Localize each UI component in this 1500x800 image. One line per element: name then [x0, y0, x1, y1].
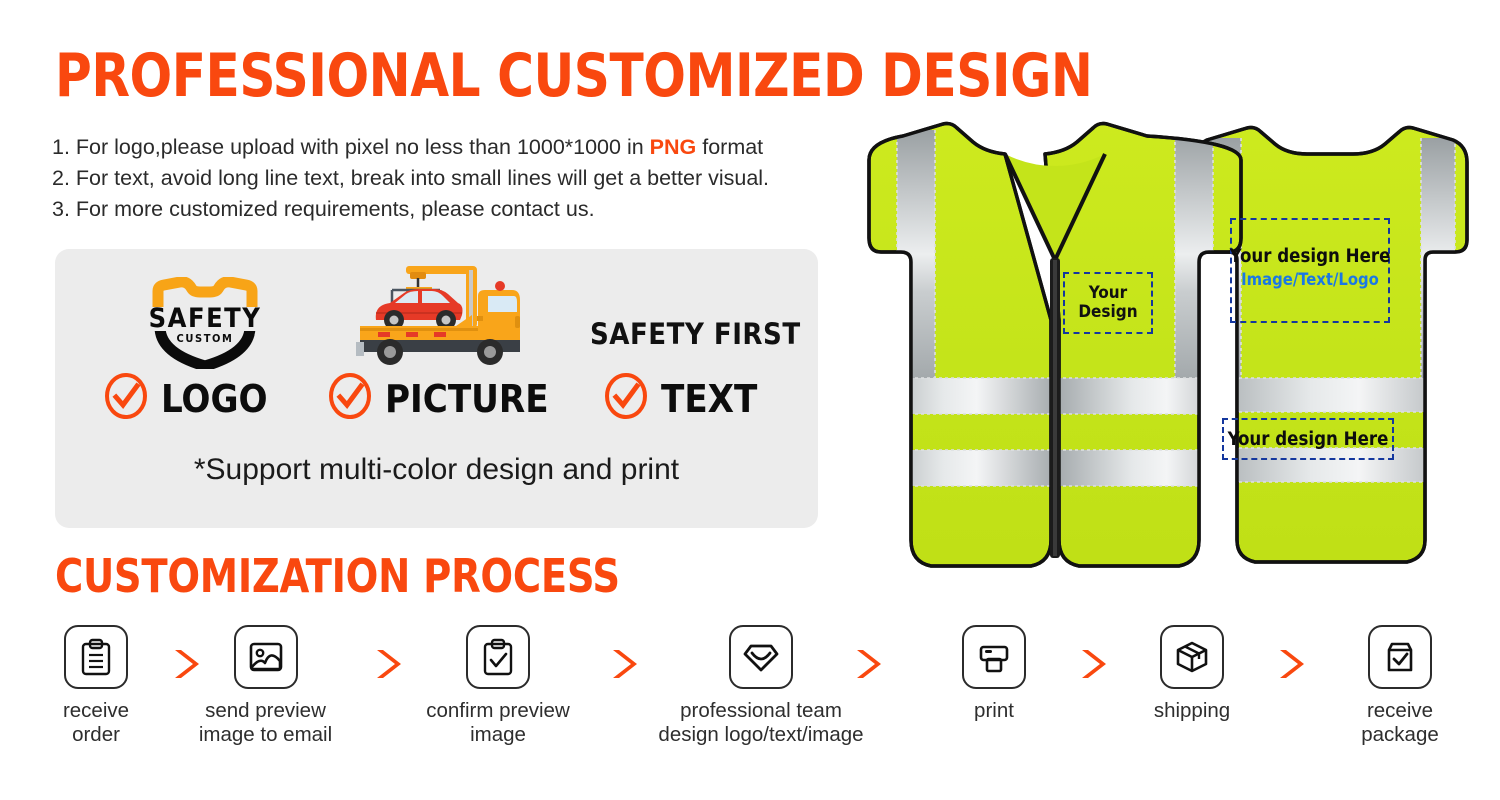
feature-check-picture: PICTURE — [328, 372, 549, 425]
vest-mockups — [855, 110, 1500, 605]
feature-check-row: LOGO PICTURE TEXT — [0, 372, 818, 430]
step-caption-line1: print — [934, 699, 1054, 723]
step-caption-line1: professional team — [638, 699, 884, 723]
step-caption-line1: confirm preview — [405, 699, 591, 723]
feature-check-logo: LOGO — [104, 372, 268, 425]
back-lower-label: Your design Here — [1228, 429, 1389, 450]
step-caption-line1: receive — [36, 699, 156, 723]
step-caption-line2: image to email — [178, 723, 353, 747]
instruction-number: 2. — [52, 163, 70, 194]
process-step-confirm-preview: confirm preview image — [405, 625, 591, 747]
printer-icon — [962, 625, 1026, 689]
process-step-shipping: shipping — [1132, 625, 1252, 723]
feature-check-text: TEXT — [604, 372, 757, 425]
front-design-area[interactable]: Your Design — [1063, 272, 1153, 334]
instruction-item: 2. For text, avoid long line text, break… — [52, 163, 882, 194]
chevron-right-icon — [1077, 647, 1107, 681]
step-caption-line2: design logo/text/image — [638, 723, 884, 747]
instruction-text: For logo,please upload with pixel no les… — [76, 135, 650, 159]
back-upper-line2: Image/Text/Logo — [1241, 270, 1379, 289]
clipboard-check-icon — [466, 625, 530, 689]
support-note: *Support multi-color design and print — [55, 453, 818, 487]
check-circle-icon — [604, 372, 648, 425]
box-check-icon — [1368, 625, 1432, 689]
front-design-line1: Your — [1089, 284, 1127, 303]
sample-text-preview: SAFETY FIRST — [590, 317, 800, 351]
step-caption-line2: image — [405, 723, 591, 747]
step-caption-line2: package — [1340, 723, 1460, 747]
vest-zipper-icon — [1050, 258, 1060, 558]
process-step-send-preview: send preview image to email — [178, 625, 353, 747]
chevron-right-icon — [372, 647, 402, 681]
step-caption-line1: shipping — [1132, 699, 1252, 723]
instruction-highlight: PNG — [650, 135, 697, 159]
tow-truck-illustration-icon — [348, 258, 536, 370]
instruction-item: 3. For more customized requirements, ple… — [52, 194, 882, 225]
chevron-right-icon — [852, 647, 882, 681]
instruction-item: 1. For logo,please upload with pixel no … — [52, 132, 882, 163]
diamond-gem-icon — [729, 625, 793, 689]
logo-brand-bottom-text: CUSTOM — [176, 332, 233, 345]
clipboard-lines-icon — [64, 625, 128, 689]
process-steps: receive order send preview image to emai… — [0, 625, 1500, 800]
instruction-number: 1. — [52, 132, 70, 163]
step-caption-line2: order — [36, 723, 156, 747]
instruction-text: For more customized requirements, please… — [76, 197, 595, 221]
back-upper-line1: Your design Here — [1230, 246, 1391, 267]
feature-check-label: PICTURE — [385, 377, 549, 421]
process-step-professional-team: professional team design logo/text/image — [638, 625, 884, 747]
front-design-line2: Design — [1078, 303, 1137, 322]
check-circle-icon — [104, 372, 148, 425]
package-box-icon — [1160, 625, 1224, 689]
instruction-number: 3. — [52, 194, 70, 225]
image-photo-icon — [234, 625, 298, 689]
step-caption-line1: send preview — [178, 699, 353, 723]
back-upper-design-area[interactable]: Your design Here Image/Text/Logo — [1230, 218, 1390, 323]
process-step-receive-package: receive package — [1340, 625, 1460, 747]
safety-custom-logo-icon: SAFETY CUSTOM — [140, 277, 270, 369]
instruction-text-post: format — [696, 135, 763, 159]
chevron-right-icon — [1275, 647, 1305, 681]
process-step-receive-order: receive order — [36, 625, 156, 747]
back-lower-design-area[interactable]: Your design Here — [1222, 418, 1394, 460]
process-step-print: print — [934, 625, 1054, 723]
instructions-list: 1. For logo,please upload with pixel no … — [52, 132, 882, 225]
logo-brand-top-text: SAFETY — [149, 303, 262, 334]
feature-check-label: LOGO — [161, 377, 268, 421]
page-title: PROFESSIONAL CUSTOMIZED DESIGN — [55, 45, 1092, 107]
process-title: CUSTOMIZATION PROCESS — [55, 552, 620, 600]
feature-check-label: TEXT — [661, 377, 757, 421]
chevron-right-icon — [608, 647, 638, 681]
check-circle-icon — [328, 372, 372, 425]
vest-front — [855, 124, 1255, 567]
step-caption-line1: receive — [1340, 699, 1460, 723]
instruction-text: For text, avoid long line text, break in… — [76, 166, 769, 190]
